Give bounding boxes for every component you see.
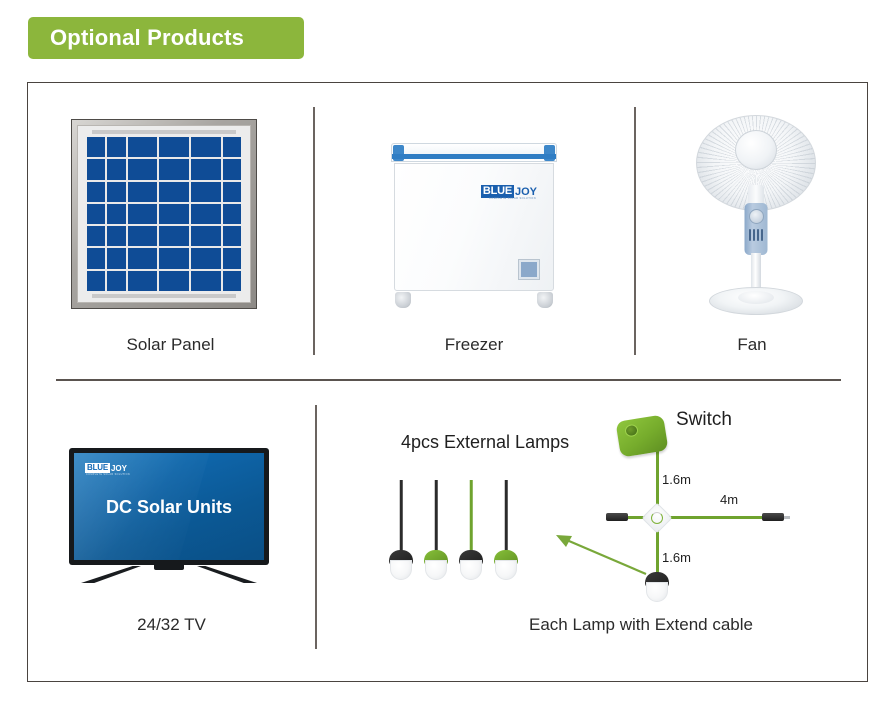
product-cell-fan[interactable]: Fan (635, 83, 869, 379)
lamp-bulb (495, 560, 517, 580)
tv-stand-neck (154, 565, 184, 570)
freezer-display-screen (521, 262, 537, 277)
switch-button-box[interactable] (615, 414, 668, 457)
product-cell-solar-panel[interactable]: Solar Panel (28, 83, 313, 379)
freezer-lid-strip (392, 154, 556, 159)
solar-panel-backsheet (77, 125, 251, 303)
logo-tagline: COMPLETE SOLAR SOLUTION (489, 197, 536, 200)
solar-panel-frame (71, 119, 257, 309)
freezer-lid (391, 143, 557, 162)
caption-solar-panel: Solar Panel (28, 335, 313, 355)
fan-control-panel[interactable] (745, 203, 768, 255)
section-header-badge: Optional Products (28, 17, 304, 59)
lamp-cord (505, 480, 508, 552)
tv-bezel: BLUE JOY COMPLETE SOLAR SOLUTION DC Sola… (69, 448, 269, 565)
product-cell-tv[interactable]: BLUE JOY COMPLETE SOLAR SOLUTION DC Sola… (28, 380, 315, 683)
lamp-cord (435, 480, 438, 552)
lamps-heading: 4pcs External Lamps (401, 432, 569, 453)
tv-screen: BLUE JOY COMPLETE SOLAR SOLUTION DC Sola… (74, 453, 264, 560)
solar-panel-busbar-bottom (92, 294, 236, 298)
lamp-cord (470, 480, 473, 552)
caption-tv: 24/32 TV (28, 615, 315, 635)
caption-freezer: Freezer (314, 335, 634, 355)
fan-base-hub (738, 291, 774, 304)
lamp-bulb (425, 560, 447, 580)
solar-panel-cell-grid (87, 137, 241, 291)
switch-power-button[interactable] (624, 424, 639, 438)
tv-leg-right (197, 566, 257, 583)
switch-lamp-bulb (646, 582, 668, 602)
logo-blue-text-tv: BLUE (85, 463, 110, 473)
tv-image: BLUE JOY COMPLETE SOLAR SOLUTION DC Sola… (69, 448, 269, 583)
freezer-control-panel[interactable] (518, 259, 540, 280)
fan-image (687, 115, 825, 315)
logo-tagline-tv: COMPLETE SOLAR SOLUTION (86, 473, 130, 476)
fan-buttons[interactable] (749, 229, 764, 241)
product-cell-freezer[interactable]: BLUE JOY COMPLETE SOLAR SOLUTION Freezer (314, 83, 634, 379)
caption-lamps: Each Lamp with Extend cable (431, 615, 851, 635)
connector-plug-left (606, 513, 628, 521)
logo-joy-text-tv: JOY (111, 465, 127, 473)
dimension-bottom: 1.6m (662, 550, 691, 565)
freezer-wheel-left (395, 292, 411, 308)
freezer-body: BLUE JOY COMPLETE SOLAR SOLUTION (394, 163, 554, 291)
fan-hub (735, 130, 777, 170)
solar-panel-busbar-top (92, 130, 236, 134)
caption-fan: Fan (635, 335, 869, 355)
lamp-bulb (390, 560, 412, 580)
external-lamps-group (388, 480, 528, 590)
bluejoy-logo-tv: BLUE JOY (85, 463, 127, 473)
tv-screen-headline: DC Solar Units (74, 497, 264, 518)
connector-plug-right (762, 513, 784, 521)
lamp-cord (400, 480, 403, 552)
page-title: Optional Products (28, 25, 244, 51)
tv-leg-left (81, 566, 141, 583)
fan-speed-dial[interactable] (749, 209, 764, 224)
dimension-right: 4m (720, 492, 738, 507)
freezer-wheel-right (537, 292, 553, 308)
connector-pin-right (784, 516, 790, 519)
switch-lamp-cord (656, 510, 659, 576)
wire-right (666, 516, 764, 519)
solar-panel-image (71, 119, 257, 309)
lamp-bulb (460, 560, 482, 580)
freezer-image: BLUE JOY COMPLETE SOLAR SOLUTION (389, 143, 559, 308)
dimension-top: 1.6m (662, 472, 691, 487)
switch-diagram: 1.6m 1.6m 4m (596, 410, 816, 610)
